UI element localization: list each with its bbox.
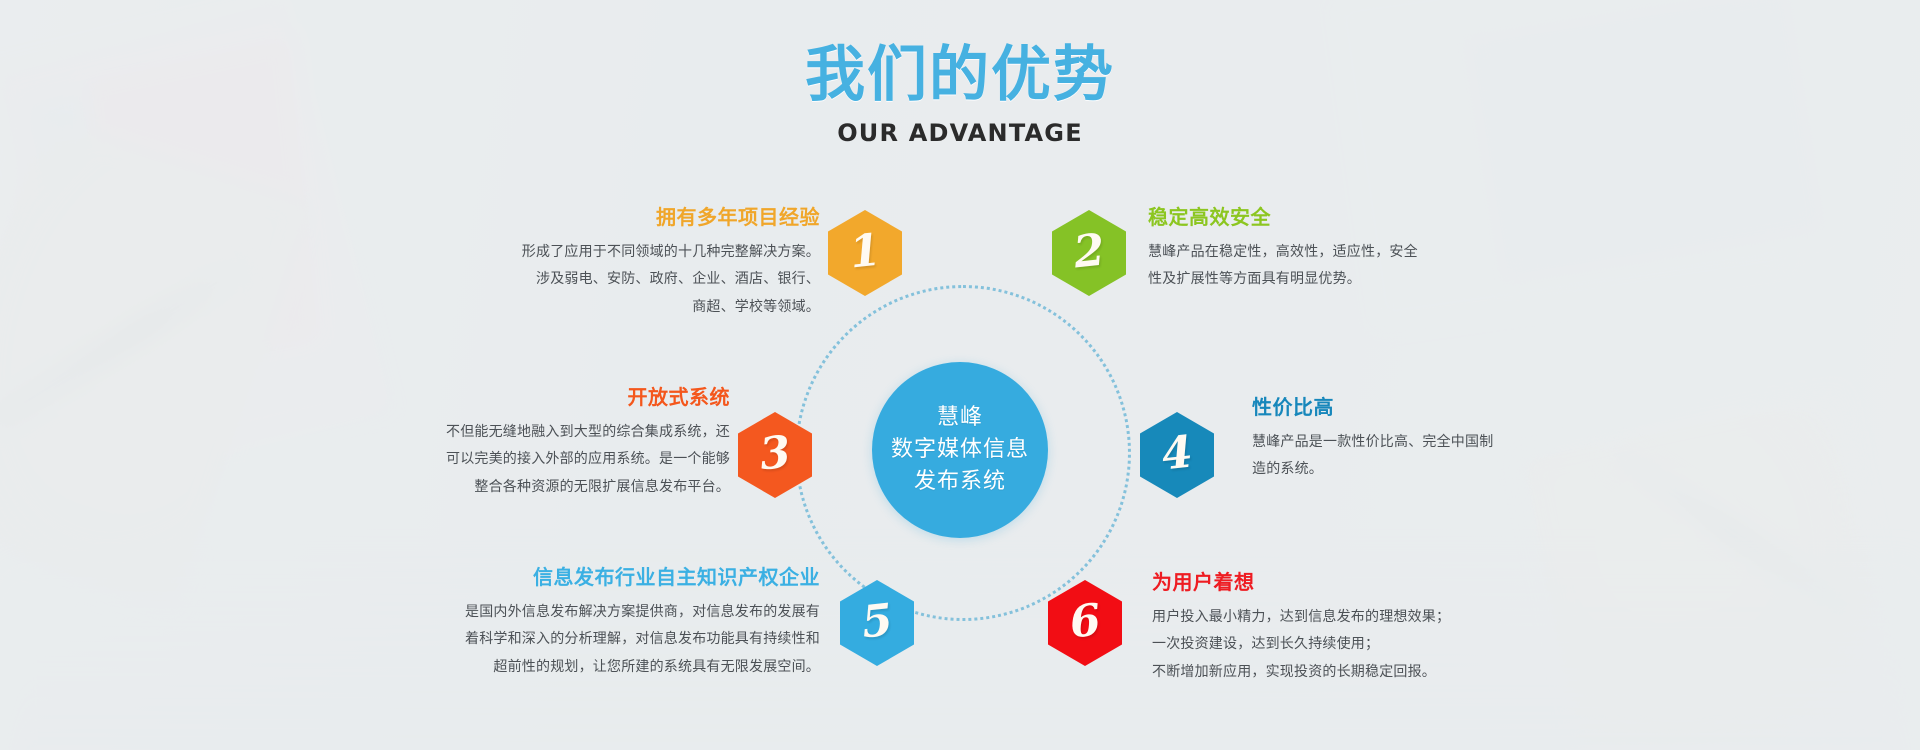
advantage-body-1: 形成了应用于不同领域的十几种完整解决方案。涉及弱电、安防、政府、企业、酒店、银行… <box>420 239 820 321</box>
advantage-item-4: 性价比高 慧峰产品是一款性价比高、完全中国制造的系统。 <box>1252 395 1652 484</box>
page-title: 我们的优势 <box>0 44 1920 107</box>
advantage-body-6: 用户投入最小精力，达到信息发布的理想效果；一次投资建设，达到长久持续使用；不断增… <box>1152 604 1582 686</box>
hex-badge-2[interactable]: 2 <box>1052 210 1126 296</box>
advantage-heading-3: 开放式系统 <box>330 385 730 409</box>
advantage-item-3: 开放式系统 不但能无缝地融入到大型的综合集成系统，还可以完美的接入外部的应用系统… <box>330 385 730 501</box>
hex-badge-4[interactable]: 4 <box>1140 412 1214 498</box>
advantage-heading-2: 稳定高效安全 <box>1148 205 1578 229</box>
hex-number-3: 3 <box>757 431 792 478</box>
page-subtitle: OUR ADVANTAGE <box>0 119 1920 147</box>
hex-number-1: 1 <box>847 229 882 276</box>
hex-badge-6[interactable]: 6 <box>1048 580 1122 666</box>
center-circle: 慧峰 数字媒体信息 发布系统 <box>872 362 1048 538</box>
hex-number-2: 2 <box>1071 229 1106 276</box>
center-line-1: 慧峰 <box>937 402 983 434</box>
hex-number-6: 6 <box>1067 599 1102 646</box>
advantage-item-1: 拥有多年项目经验 形成了应用于不同领域的十几种完整解决方案。涉及弱电、安防、政府… <box>420 205 820 321</box>
advantage-heading-6: 为用户着想 <box>1152 570 1582 594</box>
hex-number-5: 5 <box>859 599 894 646</box>
advantage-heading-4: 性价比高 <box>1252 395 1652 419</box>
hex-number-4: 4 <box>1159 431 1194 478</box>
advantage-body-2: 慧峰产品在稳定性，高效性，适应性，安全性及扩展性等方面具有明显优势。 <box>1148 239 1578 294</box>
hex-badge-1[interactable]: 1 <box>828 210 902 296</box>
advantage-item-2: 稳定高效安全 慧峰产品在稳定性，高效性，适应性，安全性及扩展性等方面具有明显优势… <box>1148 205 1578 294</box>
center-line-3: 发布系统 <box>914 466 1006 498</box>
advantage-item-5: 信息发布行业自主知识产权企业 是国内外信息发布解决方案提供商，对信息发布的发展有… <box>410 565 820 681</box>
advantage-item-6: 为用户着想 用户投入最小精力，达到信息发布的理想效果；一次投资建设，达到长久持续… <box>1152 570 1582 686</box>
advantage-body-5: 是国内外信息发布解决方案提供商，对信息发布的发展有着科学和深入的分析理解，对信息… <box>410 599 820 681</box>
center-line-2: 数字媒体信息 <box>891 434 1029 466</box>
page-header: 我们的优势 OUR ADVANTAGE <box>0 44 1920 147</box>
advantage-banner: 我们的优势 OUR ADVANTAGE 慧峰 数字媒体信息 发布系统 1 2 3… <box>0 0 1920 750</box>
advantage-heading-1: 拥有多年项目经验 <box>420 205 820 229</box>
advantage-heading-5: 信息发布行业自主知识产权企业 <box>410 565 820 589</box>
advantage-body-4: 慧峰产品是一款性价比高、完全中国制造的系统。 <box>1252 429 1652 484</box>
advantage-body-3: 不但能无缝地融入到大型的综合集成系统，还可以完美的接入外部的应用系统。是一个能够… <box>330 419 730 501</box>
